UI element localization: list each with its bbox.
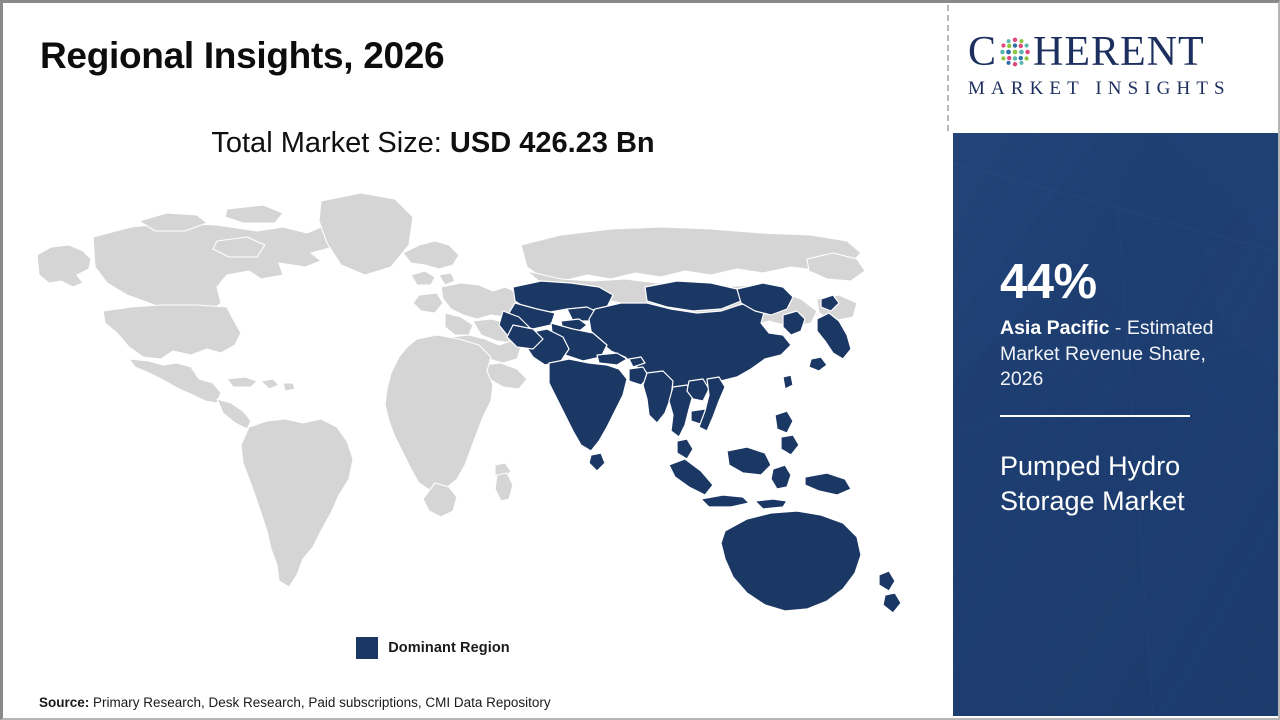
map-base-regions bbox=[37, 193, 413, 587]
panel-divider bbox=[947, 5, 949, 131]
regional-insights-infographic: Regional Insights, 2026 Total Market Siz… bbox=[0, 0, 1280, 720]
source-text: Primary Research, Desk Research, Paid su… bbox=[89, 695, 550, 710]
map-legend: Dominant Region bbox=[3, 637, 863, 659]
page-title: Regional Insights, 2026 bbox=[40, 35, 444, 77]
map-base-regions-eastern bbox=[385, 227, 865, 517]
world-map bbox=[21, 183, 901, 613]
logo-tagline: MARKET INSIGHTS bbox=[968, 78, 1268, 100]
logo-wordmark: C bbox=[968, 29, 1268, 75]
source-note: Source: Primary Research, Desk Research,… bbox=[39, 695, 551, 710]
legend-swatch-icon bbox=[356, 637, 378, 659]
dotted-globe-icon bbox=[998, 35, 1032, 69]
stat-panel: 44% Asia Pacific - Estimated Market Reve… bbox=[953, 133, 1280, 716]
stat-region-name: Asia Pacific bbox=[1000, 317, 1109, 339]
logo-word-pre: C bbox=[968, 31, 997, 73]
legend-label: Dominant Region bbox=[388, 640, 510, 656]
brand-logo: C bbox=[950, 3, 1280, 133]
market-name: Pumped Hydro Storage Market bbox=[1000, 449, 1250, 518]
stat-description: Asia Pacific - Estimated Market Revenue … bbox=[1000, 316, 1250, 393]
logo-inner: C bbox=[968, 29, 1268, 100]
left-content-panel: Regional Insights, 2026 Total Market Siz… bbox=[3, 3, 947, 718]
total-market-size-label: Total Market Size: bbox=[211, 127, 450, 159]
total-market-size-value: USD 426.23 Bn bbox=[450, 127, 655, 159]
stat-divider-rule bbox=[1000, 415, 1190, 417]
stat-percent: 44% bbox=[1000, 258, 1250, 307]
total-market-size: Total Market Size: USD 426.23 Bn bbox=[3, 127, 863, 160]
world-map-svg bbox=[21, 183, 901, 613]
right-sidebar: C bbox=[950, 3, 1280, 718]
source-label: Source: bbox=[39, 695, 89, 710]
map-dominant-region-asia-pacific bbox=[499, 281, 901, 613]
logo-word-post: HERENT bbox=[1033, 31, 1205, 73]
stat-content: 44% Asia Pacific - Estimated Market Reve… bbox=[1000, 258, 1250, 518]
